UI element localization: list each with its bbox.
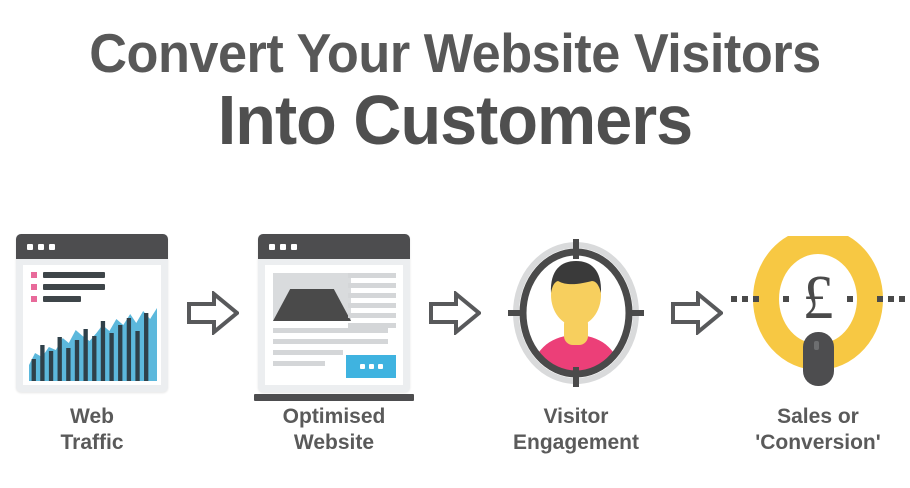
headline-line-2: Into Customers: [23, 81, 888, 159]
window-dot-icon: [280, 244, 286, 250]
pound-currency-symbol: £: [803, 264, 834, 332]
text-line: [273, 339, 388, 344]
step-sales-conversion: £ Sales or 'Co: [728, 228, 908, 455]
step-caption: Optimised Website: [283, 404, 386, 455]
legend-swatch-icon: [31, 284, 37, 290]
window-dot-icon: [49, 244, 55, 250]
text-line: [273, 328, 388, 333]
browser-window: [258, 234, 410, 392]
arrow-2: [424, 228, 486, 398]
window-dot-icon: [269, 244, 275, 250]
legend-swatch-icon: [31, 272, 37, 278]
call-to-action-button[interactable]: [346, 355, 396, 378]
caption-line-1: Web: [60, 404, 123, 430]
analytics-browser-window-icon: [2, 228, 182, 398]
legend-row: [31, 272, 105, 278]
cta-dot-icon: [360, 364, 365, 369]
window-base-bar: [254, 394, 414, 401]
legend-label-bar: [43, 272, 105, 278]
mountain-shape-icon: [273, 289, 351, 321]
cta-dot-icon: [378, 364, 383, 369]
text-line: [348, 273, 396, 278]
conversion-graphic: £: [729, 236, 907, 391]
text-line: [273, 350, 343, 355]
area-bar-chart: [29, 303, 157, 381]
caption-line-2: Website: [283, 430, 386, 456]
dot-icon: [742, 296, 748, 302]
hero-image-placeholder: [273, 273, 351, 321]
window-dot-icon: [27, 244, 33, 250]
legend-row: [31, 284, 105, 290]
dot-icon: [783, 296, 789, 302]
legend-swatch-icon: [31, 296, 37, 302]
step-optimised-website: Optimised Website: [244, 228, 424, 455]
svg-text:£: £: [803, 264, 834, 332]
text-line: [348, 293, 396, 298]
arrow-3: [666, 228, 728, 398]
dot-icon: [847, 296, 853, 302]
browser-titlebar: [16, 234, 168, 259]
step-caption: Sales or 'Conversion': [755, 404, 881, 455]
dot-icon: [888, 296, 894, 302]
window-dot-icon: [38, 244, 44, 250]
step-web-traffic: Web Traffic: [2, 228, 182, 455]
caption-line-2: Traffic: [60, 430, 123, 456]
step-caption: Web Traffic: [60, 404, 123, 455]
target-graphic: [500, 237, 652, 389]
webpage-layout-browser-window-icon: [244, 228, 424, 398]
text-line: [348, 283, 396, 288]
caption-line-2: 'Conversion': [755, 430, 881, 456]
legend-label-bar: [43, 296, 81, 302]
browser-titlebar: [258, 234, 410, 259]
caption-line-1: Sales or: [755, 404, 881, 430]
analytics-screen: [23, 265, 161, 385]
sidebar-text-lines: [348, 273, 396, 333]
right-arrow-outline-icon: [671, 291, 723, 335]
step-caption: Visitor Engagement: [513, 404, 639, 455]
right-arrow-outline-icon: [187, 291, 239, 335]
caption-line-2: Engagement: [513, 430, 639, 456]
dot-icon: [753, 296, 759, 302]
browser-window: [16, 234, 168, 392]
legend-row: [31, 296, 105, 302]
right-arrow-outline-icon: [429, 291, 481, 335]
window-dot-icon: [291, 244, 297, 250]
arrow-1: [182, 228, 244, 398]
target-svg: [500, 237, 652, 389]
chart-svg: [29, 303, 157, 381]
caption-line-1: Optimised: [283, 404, 386, 430]
page-title: Convert Your Website Visitors Into Custo…: [0, 0, 910, 159]
cta-dot-icon: [369, 364, 374, 369]
legend-label-bar: [43, 284, 105, 290]
webpage-screen: [265, 265, 403, 385]
dot-icon: [899, 296, 905, 302]
computer-mouse-icon: [803, 332, 834, 386]
crosshair-target-person-icon: [486, 228, 666, 398]
text-line: [273, 361, 325, 366]
conversion-svg: £: [729, 236, 907, 391]
caption-line-1: Visitor: [513, 404, 639, 430]
headline-line-1: Convert Your Website Visitors: [23, 26, 888, 81]
text-line: [348, 303, 396, 308]
pound-currency-lightbulb-mouse-icon: £: [728, 228, 908, 398]
step-visitor-engagement: Visitor Engagement: [486, 228, 666, 455]
dot-icon: [877, 296, 883, 302]
text-line: [348, 313, 396, 318]
dot-icon: [731, 296, 737, 302]
conversion-funnel-flow: Web Traffic: [0, 228, 910, 488]
